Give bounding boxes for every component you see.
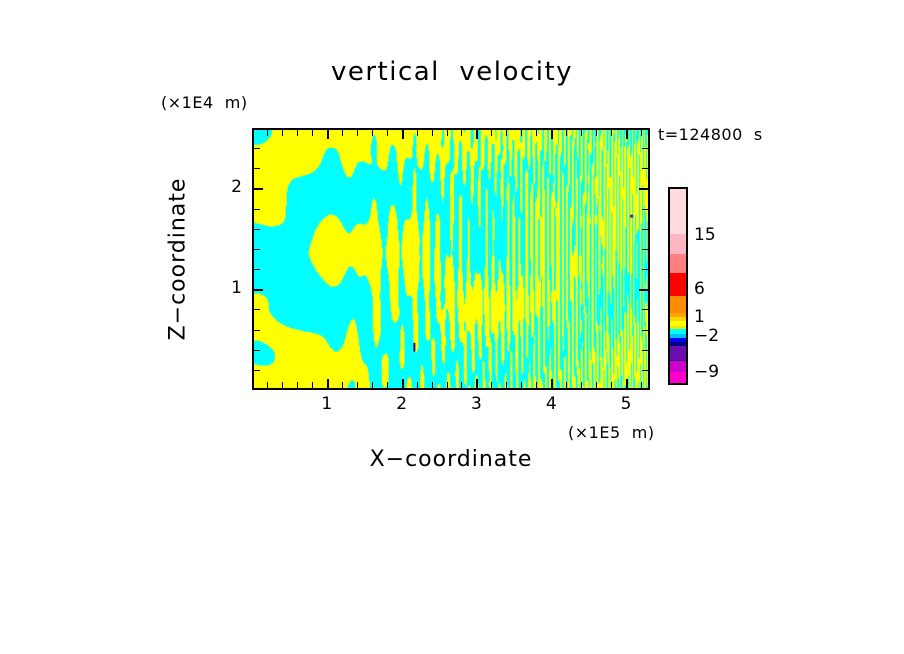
x-tick-top bbox=[611, 130, 612, 136]
x-tick-top bbox=[372, 130, 373, 136]
x-tick bbox=[626, 379, 628, 388]
y-tick-right bbox=[642, 330, 648, 331]
y-tick-right bbox=[642, 229, 648, 230]
x-tick-top bbox=[641, 130, 642, 136]
colorbar-label: −9 bbox=[694, 362, 719, 382]
y-axis-unit-label: (×1E4 m) bbox=[161, 93, 248, 112]
y-tick bbox=[254, 269, 260, 270]
y-tick-right bbox=[642, 370, 648, 371]
y-tick-right bbox=[639, 289, 648, 291]
vertical-velocity-field bbox=[254, 130, 648, 388]
colorbar-band bbox=[670, 234, 686, 254]
figure-canvas: vertical velocity (×1E4 m) t=124800 s 12… bbox=[0, 0, 904, 654]
x-tick-label: 4 bbox=[536, 394, 566, 414]
page-title: vertical velocity bbox=[0, 57, 904, 87]
x-tick-top bbox=[461, 130, 462, 136]
colorbar bbox=[668, 187, 688, 385]
x-tick-top bbox=[447, 130, 448, 136]
y-tick bbox=[254, 309, 260, 310]
x-tick-top bbox=[596, 130, 597, 136]
x-tick-label: 1 bbox=[312, 394, 342, 414]
x-tick bbox=[447, 382, 448, 388]
x-axis-unit-label: (×1E5 m) bbox=[568, 423, 655, 442]
x-tick bbox=[387, 382, 388, 388]
x-tick-label: 5 bbox=[611, 394, 641, 414]
x-tick-top bbox=[551, 130, 553, 139]
y-tick-right bbox=[642, 309, 648, 310]
x-tick-top bbox=[342, 130, 343, 136]
x-tick bbox=[432, 382, 433, 388]
y-tick bbox=[254, 188, 263, 190]
colorbar-band bbox=[670, 273, 686, 296]
colorbar-band bbox=[670, 296, 686, 314]
x-tick bbox=[491, 382, 492, 388]
colorbar-band bbox=[670, 189, 686, 234]
x-tick bbox=[641, 382, 642, 388]
y-tick-right bbox=[639, 188, 648, 190]
x-tick-top bbox=[357, 130, 358, 136]
x-tick-label: 3 bbox=[461, 394, 491, 414]
y-tick-label: 1 bbox=[214, 278, 242, 298]
x-tick-top bbox=[312, 130, 313, 136]
x-tick-top bbox=[402, 130, 404, 139]
colorbar-label: 1 bbox=[694, 307, 705, 327]
x-tick bbox=[506, 382, 507, 388]
y-tick bbox=[254, 209, 260, 210]
x-tick-top bbox=[566, 130, 567, 136]
x-tick-top bbox=[476, 130, 478, 139]
y-tick bbox=[254, 350, 260, 351]
x-tick bbox=[551, 379, 553, 388]
x-tick bbox=[372, 382, 373, 388]
y-tick-label: 2 bbox=[214, 177, 242, 197]
x-tick-top bbox=[506, 130, 507, 136]
time-annotation: t=124800 s bbox=[658, 125, 763, 144]
x-tick-top bbox=[581, 130, 582, 136]
colorbar-label: 15 bbox=[694, 225, 716, 245]
x-tick-label: 2 bbox=[387, 394, 417, 414]
y-tick-right bbox=[642, 168, 648, 169]
x-tick bbox=[357, 382, 358, 388]
y-tick bbox=[254, 370, 260, 371]
y-tick bbox=[254, 229, 260, 230]
colorbar-label: 6 bbox=[694, 279, 705, 299]
y-tick bbox=[254, 289, 263, 291]
y-tick-right bbox=[642, 209, 648, 210]
y-tick bbox=[254, 330, 260, 331]
colorbar-band bbox=[670, 346, 686, 360]
x-tick-top bbox=[327, 130, 329, 139]
x-tick bbox=[417, 382, 418, 388]
x-tick-top bbox=[432, 130, 433, 136]
y-tick-right bbox=[642, 269, 648, 270]
y-tick bbox=[254, 249, 260, 250]
x-tick bbox=[267, 382, 268, 388]
x-tick-top bbox=[491, 130, 492, 136]
x-tick-top bbox=[282, 130, 283, 136]
x-tick bbox=[282, 382, 283, 388]
x-tick bbox=[402, 379, 404, 388]
x-tick-top bbox=[521, 130, 522, 136]
x-tick-top bbox=[536, 130, 537, 136]
x-tick-top bbox=[297, 130, 298, 136]
x-tick-top bbox=[267, 130, 268, 136]
y-tick bbox=[254, 168, 260, 169]
colorbar-band bbox=[670, 254, 686, 274]
y-axis-title: Z−coordinate bbox=[166, 178, 191, 341]
x-tick-top bbox=[417, 130, 418, 136]
x-tick bbox=[476, 379, 478, 388]
plot-area bbox=[252, 128, 650, 390]
y-tick-right bbox=[642, 350, 648, 351]
x-tick bbox=[581, 382, 582, 388]
y-tick-right bbox=[642, 148, 648, 149]
x-tick bbox=[521, 382, 522, 388]
x-tick bbox=[327, 379, 329, 388]
x-tick bbox=[342, 382, 343, 388]
colorbar-label: −2 bbox=[694, 326, 719, 346]
x-tick-top bbox=[387, 130, 388, 136]
x-tick bbox=[312, 382, 313, 388]
y-tick-right bbox=[642, 249, 648, 250]
x-tick bbox=[536, 382, 537, 388]
x-tick bbox=[566, 382, 567, 388]
colorbar-band bbox=[670, 361, 686, 372]
colorbar-band bbox=[670, 372, 686, 383]
x-tick bbox=[461, 382, 462, 388]
y-tick bbox=[254, 148, 260, 149]
x-axis-title: X−coordinate bbox=[252, 447, 650, 472]
x-tick bbox=[611, 382, 612, 388]
x-tick-top bbox=[626, 130, 628, 139]
x-tick bbox=[297, 382, 298, 388]
x-tick bbox=[596, 382, 597, 388]
